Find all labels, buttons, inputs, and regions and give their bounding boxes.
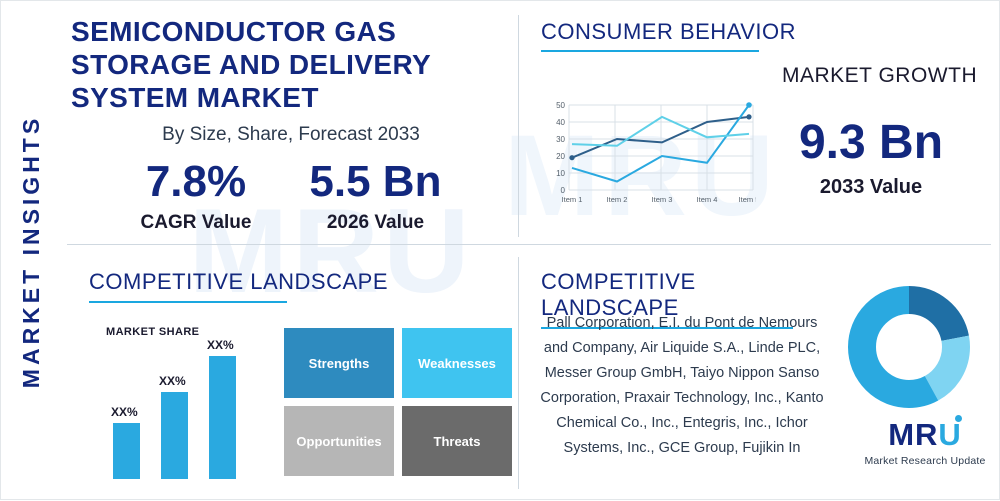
- market-growth-line-chart: 50 40 30 20 10 0 Item 1 Item 2 Item 3 It…: [541, 97, 756, 222]
- swot-threats[interactable]: Threats: [402, 406, 512, 476]
- vertical-divider-top: [518, 15, 519, 237]
- market-insights-label: MARKET INSIGHTS: [19, 114, 46, 387]
- swot-strengths[interactable]: Strengths: [284, 328, 394, 398]
- competitive-landscape-left-heading: COMPETITIVE LANDSCAPE: [89, 269, 509, 295]
- stat-cagr-value: 7.8%: [141, 160, 252, 204]
- svg-text:40: 40: [556, 118, 565, 127]
- svg-text:Item 1: Item 1: [562, 195, 583, 204]
- competitive-landscape-left-block: COMPETITIVE LANDSCAPE: [89, 269, 509, 303]
- swot-grid: Strengths Weaknesses Opportunities Threa…: [284, 328, 512, 480]
- bar-2: [161, 392, 188, 479]
- bar-3: [209, 356, 236, 479]
- swot-opportunities-label: Opportunities: [296, 434, 381, 449]
- stat-2033: 9.3 Bn 2033 Value: [761, 119, 981, 199]
- consumer-behavior-rule: [541, 50, 759, 52]
- svg-text:20: 20: [556, 152, 565, 161]
- stat-cagr: 7.8% CAGR Value: [141, 160, 252, 234]
- svg-text:Item 2: Item 2: [607, 195, 628, 204]
- page-title: SEMICONDUCTOR GAS STORAGE AND DELIVERY S…: [71, 15, 511, 114]
- market-growth-label: MARKET GROWTH: [782, 64, 977, 88]
- market-share-donut-chart: [846, 284, 972, 415]
- bar-label-1: XX%: [111, 405, 138, 419]
- bar-label-2: XX%: [159, 374, 186, 388]
- market-insights-rail: MARKET INSIGHTS: [1, 1, 63, 501]
- swot-opportunities[interactable]: Opportunities: [284, 406, 394, 476]
- page-subtitle: By Size, Share, Forecast 2033: [71, 124, 511, 146]
- swot-strengths-label: Strengths: [309, 356, 370, 371]
- logo-name: MRU: [863, 419, 987, 450]
- bar-1: [113, 423, 140, 479]
- stat-cagr-label: CAGR Value: [141, 212, 252, 234]
- horizontal-divider: [67, 244, 991, 245]
- donut-chart-svg: [846, 284, 972, 410]
- swot-weaknesses-label: Weaknesses: [418, 356, 496, 371]
- svg-text:Item 4: Item 4: [697, 195, 718, 204]
- header-block: SEMICONDUCTOR GAS STORAGE AND DELIVERY S…: [71, 15, 511, 234]
- consumer-behavior-block: CONSUMER BEHAVIOR MARKET GROWTH: [541, 19, 991, 52]
- market-share-bar-chart: XX% XX% XX%: [105, 339, 265, 479]
- svg-text:10: 10: [556, 169, 565, 178]
- swot-weaknesses[interactable]: Weaknesses: [402, 328, 512, 398]
- line-chart-svg: 50 40 30 20 10 0 Item 1 Item 2 Item 3 It…: [541, 97, 756, 222]
- competitive-landscape-left-rule: [89, 301, 287, 303]
- logo-tagline: Market Research Update: [863, 455, 987, 467]
- svg-text:30: 30: [556, 135, 565, 144]
- bar-label-3: XX%: [207, 338, 234, 352]
- stat-2026: 5.5 Bn 2026 Value: [309, 160, 441, 234]
- svg-text:Item 5: Item 5: [739, 195, 756, 204]
- company-list: Pall Corporation, E.I. du Pont de Nemour…: [537, 311, 827, 461]
- stat-2033-label: 2033 Value: [761, 176, 981, 199]
- infographic-page: MRU MRU MARKET INSIGHTS SEMICONDUCTOR GA…: [0, 0, 1000, 500]
- svg-text:Item 3: Item 3: [652, 195, 673, 204]
- vertical-divider-bottom: [518, 257, 519, 489]
- stat-group: 7.8% CAGR Value 5.5 Bn 2026 Value: [71, 160, 511, 234]
- brand-logo: MRU Market Research Update: [863, 419, 987, 467]
- stat-2026-label: 2026 Value: [309, 212, 441, 234]
- svg-text:0: 0: [561, 186, 566, 195]
- stat-2026-value: 5.5 Bn: [309, 160, 441, 204]
- svg-text:50: 50: [556, 101, 565, 110]
- swot-threats-label: Threats: [434, 434, 481, 449]
- stat-2033-value: 9.3 Bn: [761, 119, 981, 167]
- market-share-label: MARKET SHARE: [106, 326, 199, 338]
- logo-dot-icon: [955, 415, 962, 422]
- consumer-behavior-heading: CONSUMER BEHAVIOR: [541, 19, 991, 45]
